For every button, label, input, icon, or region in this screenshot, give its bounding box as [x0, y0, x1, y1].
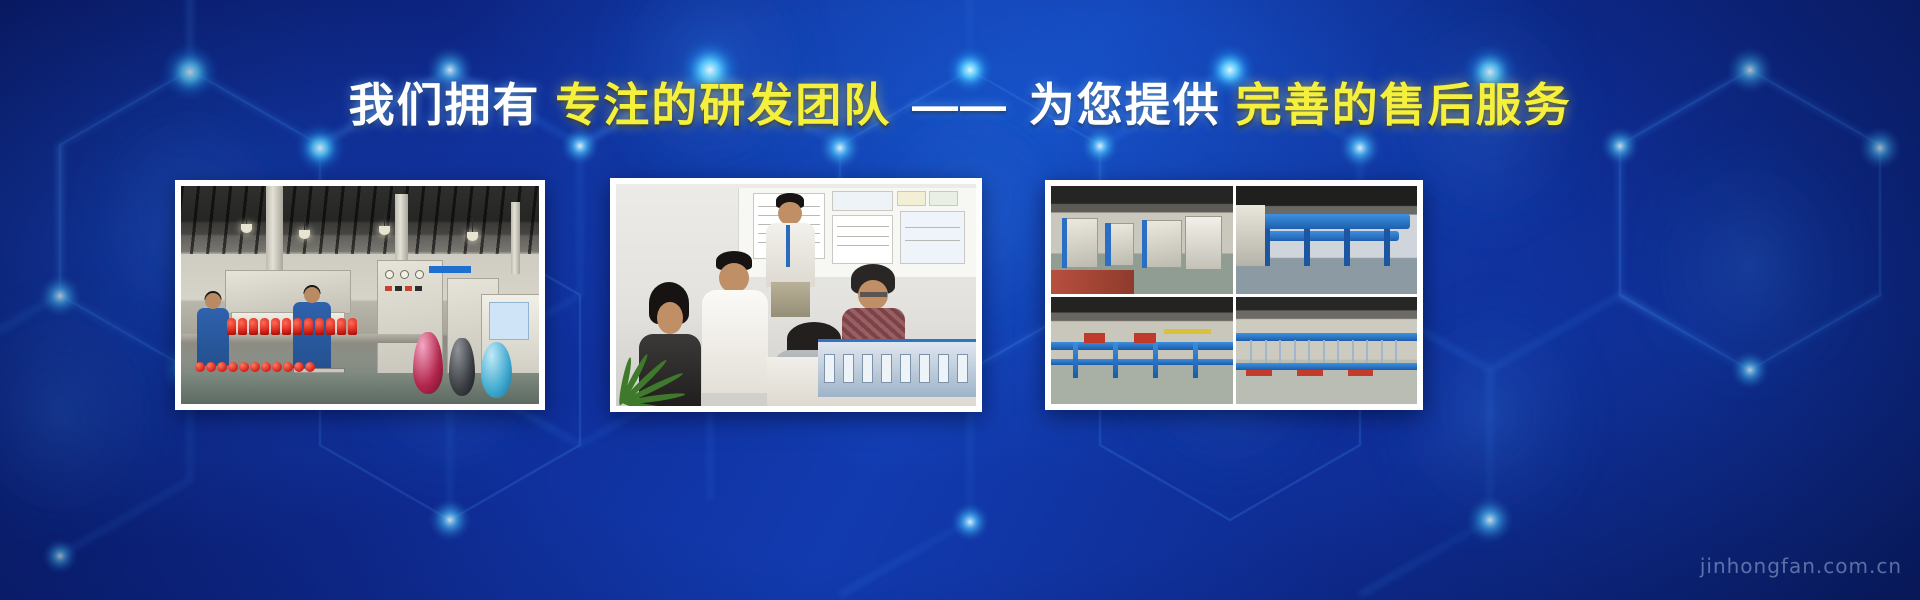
headline-segment-2: 专注的研发团队 — [555, 79, 891, 131]
montage-cell-conveyor — [1051, 297, 1233, 405]
headline-segment-5: 完善的售后服务 — [1236, 79, 1572, 131]
montage-cell-blue-duct — [1236, 186, 1418, 294]
site-watermark: jinhongfan.com.cn — [1700, 554, 1902, 578]
promo-banner: 我们拥有 专注的研发团队 —— 为您提供 完善的售后服务 — [0, 0, 1920, 600]
photo-production-line-image — [181, 186, 539, 404]
foreground-plant — [623, 339, 702, 406]
headline-segment-4: 为您提供 — [1029, 79, 1221, 131]
montage-cell-plant-hall — [1051, 186, 1233, 294]
photo-technical-meeting-image — [616, 184, 976, 406]
headline-dash: —— — [906, 79, 1014, 131]
headline-segment-1: 我们拥有 — [348, 79, 540, 131]
photo-equipment-montage-image — [1051, 186, 1417, 404]
montage-cell-hanging-line — [1236, 297, 1418, 405]
photo-technical-meeting[interactable] — [610, 178, 982, 412]
photo-equipment-montage[interactable] — [1045, 180, 1423, 410]
photo-production-line[interactable] — [175, 180, 545, 410]
banner-headline: 我们拥有 专注的研发团队 —— 为您提供 完善的售后服务 — [0, 82, 1920, 128]
